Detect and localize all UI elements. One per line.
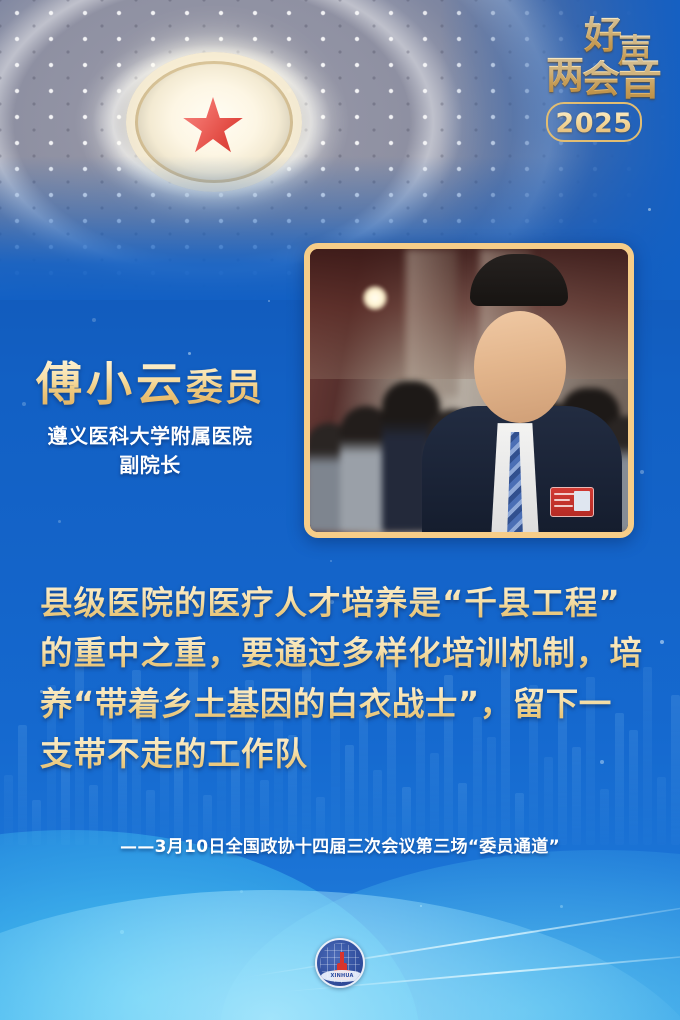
wave-shape-3	[220, 850, 680, 1020]
quote-line-1: 县级医院的医疗人才培养是“千县工程”	[40, 578, 644, 628]
program-logo: 两 会 好 声 音 2025	[544, 14, 664, 164]
quote-block: 县级医院的医疗人才培养是“千县工程” 的重中之重，要通过多样化培训机制，培 养“…	[40, 578, 644, 780]
speaker-organization: 遵义医科大学附属医院	[0, 423, 300, 450]
photo-lamp	[362, 285, 388, 311]
photo-speaker-figure	[422, 323, 622, 532]
wave-arc-1	[243, 895, 680, 978]
speaker-name-suffix: 委员	[186, 366, 264, 409]
speaker-photo-frame	[304, 243, 634, 538]
speaker-name-line: 傅小云委员	[0, 358, 300, 411]
quote-line-2: 的重中之重，要通过多样化培训机制，培	[40, 628, 644, 678]
quote-line-3: 养“带着乡土基因的白衣战士”，留下一	[40, 679, 644, 729]
speaker-name-block: 傅小云委员 遵义医科大学附属医院 副院长	[0, 358, 300, 479]
quote-line-4: 支带不走的工作队	[40, 729, 644, 779]
logo-band: XINHUA	[321, 970, 363, 982]
quote-attribution: ——3月10日全国政协十四届三次会议第三场“委员通道”	[0, 832, 680, 857]
logo-circle: XINHUA	[315, 938, 365, 988]
logo-char-yin: 音	[618, 58, 662, 102]
speaker-name: 傅小云	[36, 357, 186, 411]
photo-face	[474, 311, 566, 423]
logo-char-hui: 会	[582, 60, 620, 98]
speaker-photo	[310, 249, 628, 532]
logo-char-hao: 好	[584, 16, 622, 54]
logo-year: 2025	[552, 108, 636, 139]
speaker-position: 副院长	[0, 452, 300, 479]
logo-band-text: XINHUA	[321, 970, 363, 982]
photo-delegate-badge	[550, 487, 594, 517]
logo-char-liang: 两	[546, 56, 584, 94]
xinhua-news-agency-logo: XINHUA	[315, 938, 365, 996]
poster-root: 两 会 好 声 音 2025	[0, 0, 680, 1020]
